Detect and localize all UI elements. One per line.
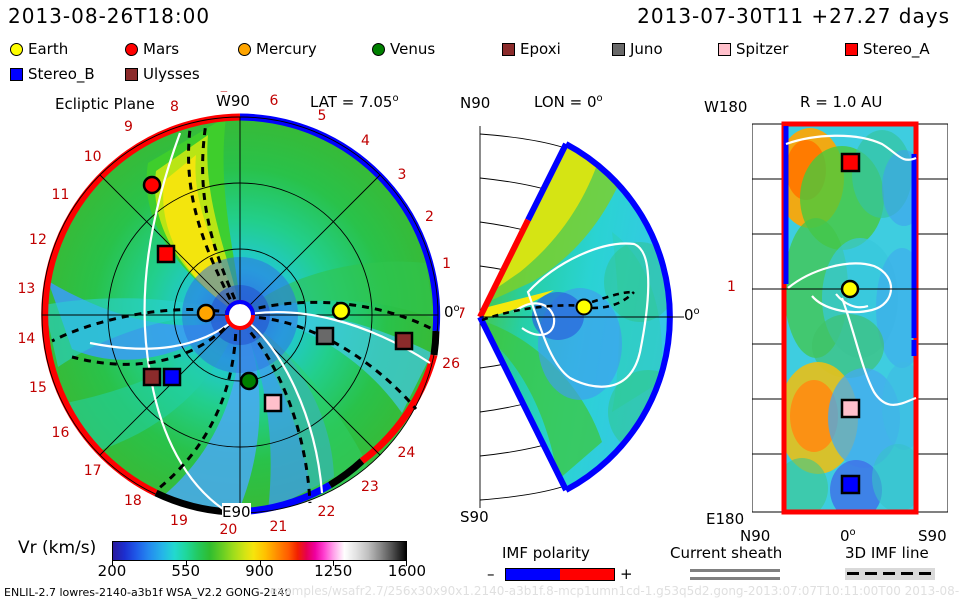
imf-3d-dash xyxy=(865,572,877,575)
ecliptic-plot xyxy=(30,105,450,525)
hour-label-10: 10 xyxy=(84,149,102,165)
label-s90: S90 xyxy=(460,508,489,526)
legend-swatch-mercury-icon xyxy=(238,43,251,56)
legend-item-ulysses: Ulysses xyxy=(125,65,200,83)
meridional-earth-marker xyxy=(577,300,592,315)
hour-label-3: 3 xyxy=(397,167,406,183)
legend-swatch-juno-icon xyxy=(612,43,625,56)
radial-axis-zero: 0o xyxy=(840,527,856,545)
legend-label: Venus xyxy=(390,40,435,58)
current-sheath-title: Current sheath xyxy=(670,544,782,562)
legend-item-juno: Juno xyxy=(612,40,663,58)
imf-plus-label: + xyxy=(620,565,633,583)
legend-item-spitzer: Spitzer xyxy=(718,40,788,58)
colorbar-tick-550: 550 xyxy=(171,562,200,580)
velocity-colorbar xyxy=(112,541,407,561)
current-sheath-symbol xyxy=(690,569,780,580)
ecliptic-marker-stereo_a xyxy=(158,246,174,262)
imf-3d-line-symbol xyxy=(845,568,935,580)
legend-label: Ulysses xyxy=(143,65,200,83)
imf-negative-swatch xyxy=(506,569,560,580)
legend-label: Epoxi xyxy=(520,40,561,58)
legend-label: Stereo_A xyxy=(863,40,930,58)
legend-label: Mars xyxy=(143,40,179,58)
radial-marker-stereo-b xyxy=(842,476,859,493)
meridional-label-zero: 0o xyxy=(684,306,700,324)
ecliptic-marker-mercury xyxy=(198,305,214,321)
meridional-panel-title: LON = 0o xyxy=(534,93,603,111)
radial-axis-s90: S90 xyxy=(918,527,947,545)
ecliptic-plane-panel: 1234567891011121314151617181920212223242… xyxy=(30,105,450,525)
hour-label-15: 15 xyxy=(29,380,47,396)
ecliptic-marker-earth xyxy=(333,303,349,319)
legend-swatch-stereo_a-icon xyxy=(845,43,858,56)
model-credit: ENLIL-2.7 lowres-2140-a3b1f WSA_V2.2 GON… xyxy=(4,586,292,599)
imf-3d-line-title: 3D IMF line xyxy=(845,544,929,562)
hour-label-8: 8 xyxy=(170,99,179,115)
run-watermark: examples/wsafr2.7/256x30x90x1.2140-a3b1f… xyxy=(270,584,960,598)
colorbar-tick-900: 900 xyxy=(245,562,274,580)
ecliptic-marker-venus xyxy=(241,373,257,389)
label-e180: E180 xyxy=(706,510,744,528)
imf-polarity-swatch xyxy=(505,568,615,581)
radial-marker-spitzer xyxy=(842,400,859,417)
timestamp-current: 2013-08-26T18:00 xyxy=(8,4,210,28)
hour-label-19: 19 xyxy=(170,513,188,529)
label-w90: W90 xyxy=(216,92,250,110)
legend-label: Spitzer xyxy=(736,40,788,58)
legend-swatch-spitzer-icon xyxy=(718,43,731,56)
hour-label-16: 16 xyxy=(52,425,70,441)
legend-label: Juno xyxy=(630,40,663,58)
radial-row-label: 1 xyxy=(727,279,736,295)
legend-item-epoxi: Epoxi xyxy=(502,40,561,58)
legend-item-earth: Earth xyxy=(10,40,68,58)
hour-label-9: 9 xyxy=(124,119,133,135)
legend-swatch-stereo_b-icon xyxy=(10,68,23,81)
imf-3d-dash xyxy=(919,572,931,575)
legend-swatch-epoxi-icon xyxy=(502,43,515,56)
imf-3d-dash xyxy=(883,572,895,575)
colorbar-tick-1600: 1600 xyxy=(388,562,426,580)
radial-shell-plot xyxy=(752,118,948,518)
ecliptic-marker-mars xyxy=(144,177,160,193)
label-lon-zero: 0o xyxy=(444,303,460,321)
hour-label-2: 2 xyxy=(425,209,434,225)
sun-marker xyxy=(227,302,253,328)
current-sheath-line-bottom xyxy=(690,577,780,580)
hour-label-4: 4 xyxy=(361,133,370,149)
legend-item-venus: Venus xyxy=(372,40,435,58)
radial-marker-stereo-a xyxy=(842,154,859,171)
legend-label: Stereo_B xyxy=(28,65,95,83)
ecliptic-marker-juno xyxy=(317,328,333,344)
legend-swatch-ulysses-icon xyxy=(125,68,138,81)
legend-label: Mercury xyxy=(256,40,317,58)
colorbar-tick-1250: 1250 xyxy=(314,562,352,580)
hour-label-22: 22 xyxy=(318,504,336,520)
meridional-plot xyxy=(462,112,692,522)
ecliptic-lat-label: LAT = 7.05o xyxy=(310,93,399,111)
legend-swatch-venus-icon xyxy=(372,43,385,56)
label-e90: E90 xyxy=(222,503,251,521)
radial-marker-earth xyxy=(842,281,858,297)
hour-label-17: 17 xyxy=(84,463,102,479)
ecliptic-marker-stereo_b xyxy=(164,369,180,385)
meridional-panel: N90 S90 0o xyxy=(462,112,692,522)
radial-shell-panel: W180 E180 N90 0o S90 1 xyxy=(752,118,948,518)
hour-label-18: 18 xyxy=(124,493,142,509)
legend-swatch-earth-icon xyxy=(10,43,23,56)
legend-swatch-mars-icon xyxy=(125,43,138,56)
imf-polarity-title: IMF polarity xyxy=(502,544,590,562)
legend-item-stereo_a: Stereo_A xyxy=(845,40,930,58)
ecliptic-marker-spitzer xyxy=(265,395,281,411)
hour-label-23: 23 xyxy=(361,479,379,495)
hour-label-21: 21 xyxy=(270,519,288,535)
imf-3d-dash xyxy=(901,572,913,575)
hour-label-6: 6 xyxy=(270,93,279,109)
label-n90: N90 xyxy=(460,94,490,112)
label-w180: W180 xyxy=(704,98,747,116)
hour-label-20: 20 xyxy=(219,522,237,538)
legend-label: Earth xyxy=(28,40,68,58)
ecliptic-panel-title: Ecliptic Plane xyxy=(55,95,155,113)
hour-label-26: 26 xyxy=(442,356,460,372)
hour-label-12: 12 xyxy=(29,232,47,248)
imf-3d-dash xyxy=(847,572,859,575)
imf-minus-label: – xyxy=(487,565,495,583)
legend-item-mercury: Mercury xyxy=(238,40,317,58)
radial-panel-title: R = 1.0 AU xyxy=(800,93,882,111)
imf-positive-swatch xyxy=(560,569,614,580)
legend-item-mars: Mars xyxy=(125,40,179,58)
ecliptic-marker-epoxi xyxy=(144,369,160,385)
colorbar-title: Vr (km/s) xyxy=(18,538,96,558)
hour-label-13: 13 xyxy=(17,281,35,297)
hour-label-14: 14 xyxy=(17,331,35,347)
radial-axis-n90: N90 xyxy=(740,527,770,545)
legend-item-stereo_b: Stereo_B xyxy=(10,65,95,83)
hour-label-24: 24 xyxy=(397,445,415,461)
hour-label-11: 11 xyxy=(52,187,70,203)
ecliptic-marker-ulysses xyxy=(396,333,412,349)
hour-label-1: 1 xyxy=(442,256,451,272)
timestamp-run-start: 2013-07-30T11 +27.27 days xyxy=(637,4,950,28)
colorbar-tick-200: 200 xyxy=(98,562,127,580)
